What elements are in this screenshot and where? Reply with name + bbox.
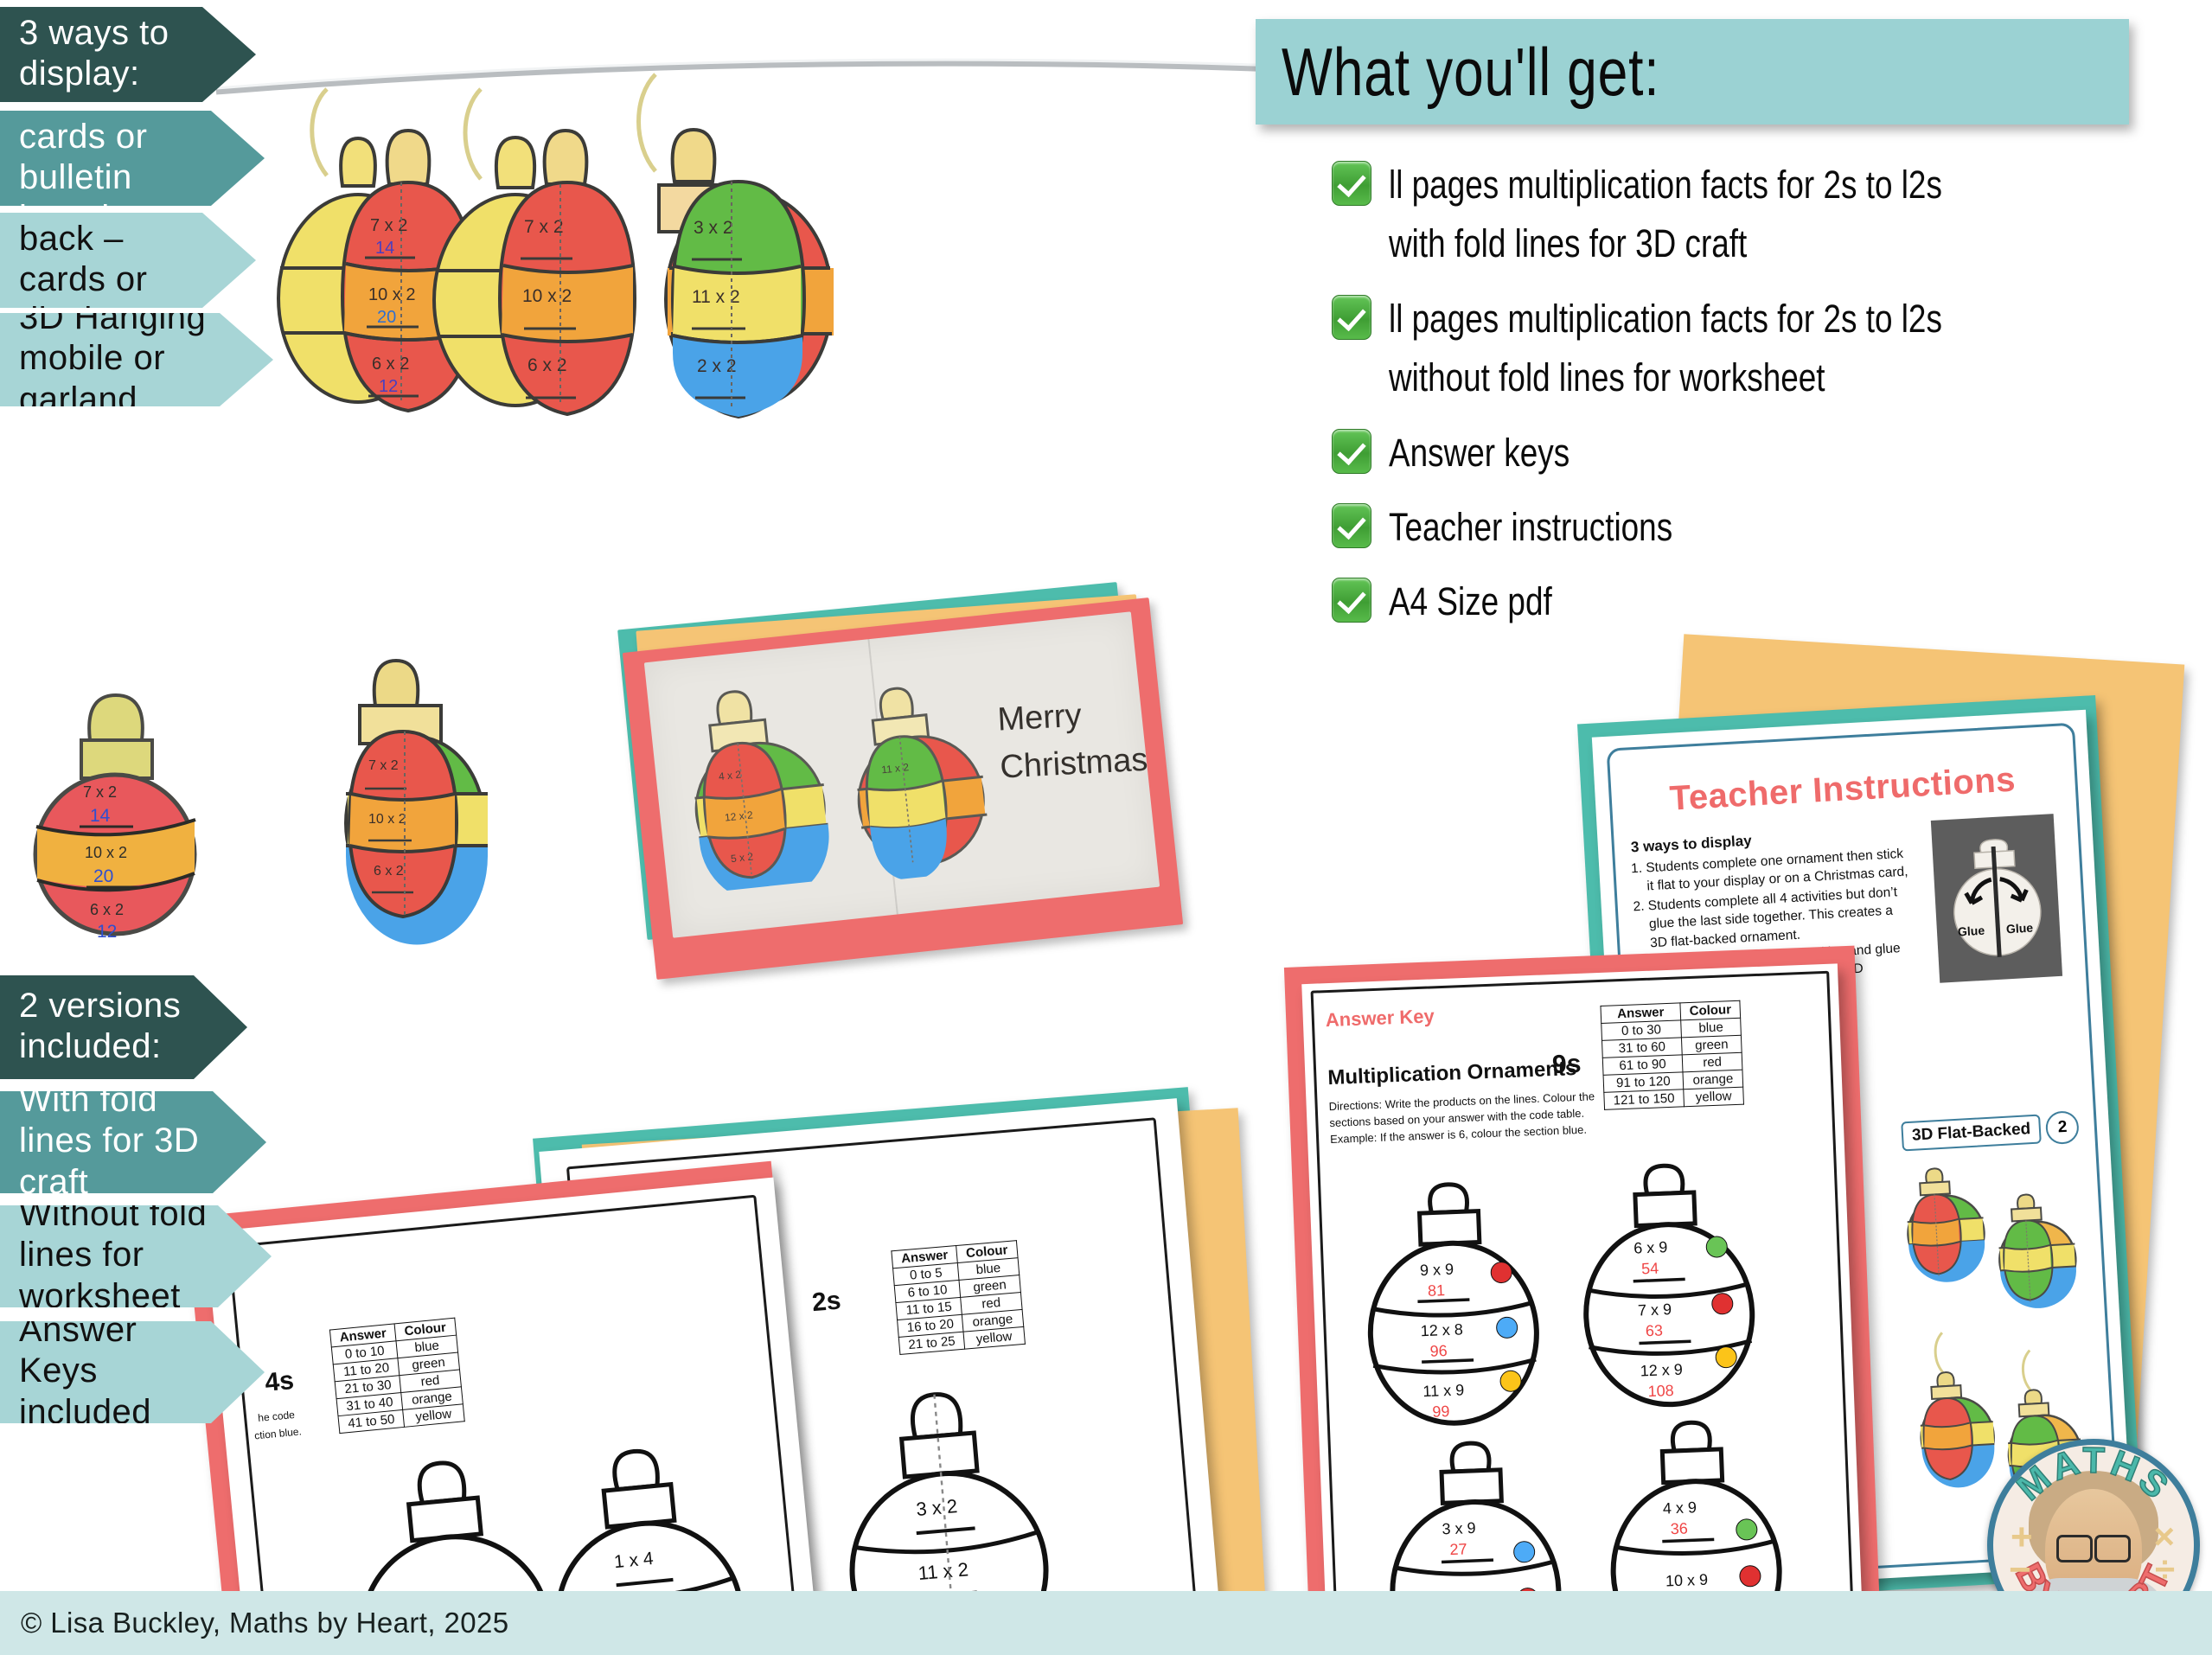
- svg-text:10 x 9: 10 x 9: [1665, 1571, 1709, 1590]
- feature-list: ll pages multiplication facts for 2s to …: [1332, 156, 2196, 648]
- feature-item-3: Answer keys: [1332, 424, 2196, 482]
- svg-text:4 x 2: 4 x 2: [718, 768, 742, 783]
- answer-key-ornament-1: 9 x 9 81 12 x 8 96 11 x 9 99: [1344, 1173, 1569, 1432]
- banner-3d-flat-back: 3D Flat-back – cards or display: [0, 213, 256, 308]
- glue-label-right: Glue: [2005, 921, 2033, 936]
- banner-2-versions-label: 2 versions included:: [19, 986, 187, 1067]
- minus-icon: −: [2009, 1549, 2031, 1592]
- flat-backed-number: 2: [2045, 1110, 2080, 1145]
- feature-item-4-line-1: Teacher instructions: [1389, 498, 1672, 557]
- svg-text:20: 20: [93, 866, 113, 886]
- feature-item-2: ll pages multiplication facts for 2s to …: [1332, 290, 2196, 408]
- check-icon: [1332, 578, 1371, 623]
- answer-key-code-table: Answer Colour 0 to 30blue 31 to 60green …: [1600, 1000, 1744, 1110]
- check-icon: [1332, 161, 1371, 206]
- svg-text:14: 14: [90, 806, 111, 826]
- svg-text:MATHS: MATHS: [2009, 1445, 2179, 1508]
- banner-without-fold-lines-label: Without fold lines for worksheet: [19, 1194, 211, 1317]
- svg-text:7 x 2: 7 x 2: [524, 217, 564, 237]
- feature-item-1: ll pages multiplication facts for 2s to …: [1332, 156, 2196, 274]
- footer-bar: © Lisa Buckley, Maths by Heart, 2025: [0, 1591, 2212, 1655]
- banner-with-fold-lines: With fold lines for 3D craft: [0, 1091, 266, 1193]
- svg-text:7 x 2: 7 x 2: [368, 758, 399, 773]
- svg-text:99: 99: [1432, 1403, 1450, 1421]
- copyright-text: © Lisa Buckley, Maths by Heart, 2025: [21, 1607, 509, 1639]
- greeting-line-2: Christmas: [999, 737, 1149, 792]
- card-greeting: Merry Christmas: [996, 689, 1149, 792]
- svg-text:27: 27: [1449, 1540, 1467, 1558]
- svg-text:20: 20: [377, 308, 396, 327]
- svg-text:10 x 2: 10 x 2: [85, 844, 127, 861]
- hanging-ornament-3: 3 x 2 11 x 2 2 x 2: [562, 67, 873, 413]
- check-icon: [1332, 295, 1371, 340]
- product-cover-canvas: 7 x 2 14 10 x 2 20 6 x 2 12 7 x 2: [0, 0, 2212, 1655]
- feature-item-5: A4 Size pdf: [1332, 572, 2196, 631]
- answer-key-times-table: 9s: [1551, 1050, 1582, 1080]
- flat-backed-ornament-samples: [1895, 1151, 2102, 1326]
- svg-text:7 x 2: 7 x 2: [83, 783, 117, 801]
- banner-3d-hanging-label: 3D Hanging mobile or garland: [19, 297, 213, 420]
- glue-label-left: Glue: [1958, 923, 1985, 939]
- banner-answer-keys-included: Answer Keys included: [0, 1321, 265, 1423]
- svg-text:6 x 2: 6 x 2: [374, 864, 404, 879]
- svg-text:6 x 2: 6 x 2: [90, 901, 124, 918]
- worksheet-4s-code-table: Answer Colour 0 to 10blue 11 to 20green …: [329, 1318, 464, 1434]
- svg-text:11 x 2: 11 x 2: [692, 287, 740, 307]
- feature-item-2-line-1: ll pages multiplication facts for 2s to …: [1389, 290, 1942, 348]
- greeting-line-1: Merry: [996, 689, 1147, 744]
- banner-2-versions-included: 2 versions included:: [0, 975, 247, 1079]
- worksheet-page-4s: 4s he code ction blue. Answer Colour 0 t…: [205, 1178, 818, 1655]
- svg-text:12: 12: [97, 922, 117, 942]
- feature-item-1-text: ll pages multiplication facts for 2s to …: [1389, 156, 2063, 274]
- svg-text:6 x 9: 6 x 9: [1633, 1238, 1668, 1256]
- check-icon: [1332, 429, 1371, 474]
- feature-item-4: Teacher instructions: [1332, 498, 2196, 557]
- feature-item-3-text: Answer keys: [1389, 424, 1609, 482]
- feature-item-5-line-1: A4 Size pdf: [1389, 572, 1552, 631]
- svg-text:11 x 2: 11 x 2: [917, 1558, 969, 1584]
- svg-text:96: 96: [1429, 1342, 1448, 1360]
- svg-text:4 x 9: 4 x 9: [1662, 1498, 1697, 1517]
- svg-text:3 x 2: 3 x 2: [915, 1495, 958, 1520]
- feature-item-2-line-2: without fold lines for worksheet: [1389, 348, 1942, 407]
- card-ornament-right: 11 x 2: [816, 661, 1019, 886]
- worksheet-4s-times-table: 4s: [264, 1366, 295, 1398]
- banner-without-fold-lines: Without fold lines for worksheet: [0, 1205, 272, 1307]
- feature-item-5-text: A4 Size pdf: [1389, 572, 1588, 631]
- svg-text:12 x 8: 12 x 8: [1420, 1320, 1463, 1339]
- svg-text:108: 108: [1647, 1382, 1674, 1400]
- svg-text:3 x 9: 3 x 9: [1442, 1519, 1476, 1537]
- banner-with-fold-lines-label: With fold lines for 3D craft: [19, 1080, 206, 1203]
- banner-3d-hanging: 3D Hanging mobile or garland: [0, 313, 273, 406]
- glue-demo-photo: Glue Glue: [1931, 814, 2062, 983]
- svg-text:12 x 9: 12 x 9: [1640, 1361, 1683, 1380]
- svg-text:36: 36: [1670, 1520, 1688, 1538]
- card-photo: 4 x 2 12 x 2 5 x 2 11 x 2: [644, 611, 1160, 937]
- worksheet-2s-code-table: Answer Colour 0 to 5blue 6 to 10green 11…: [891, 1240, 1025, 1355]
- banner-3-ways-to-display: 3 ways to display:: [0, 7, 256, 102]
- flat-back-3d-sample-ornament: 7 x 2 10 x 2 6 x 2: [285, 631, 502, 925]
- code-table-header-colour: Colour: [1680, 1000, 1741, 1020]
- svg-text:54: 54: [1641, 1260, 1659, 1278]
- svg-text:1 x 4: 1 x 4: [613, 1549, 655, 1572]
- what-youll-get-title: What you'll get:: [1282, 33, 1659, 112]
- divide-icon: ÷: [2155, 1549, 2175, 1590]
- worksheet-2s-times-table: 2s: [811, 1287, 842, 1319]
- answer-key-directions: Directions: Write the products on the li…: [1328, 1089, 1598, 1147]
- merry-christmas-photo-card: 4 x 2 12 x 2 5 x 2 11 x 2: [650, 605, 1186, 968]
- svg-text:6 x 2: 6 x 2: [372, 355, 409, 374]
- feature-item-4-text: Teacher instructions: [1389, 498, 1735, 557]
- flat-backed-label: 3D Flat-Backed: [1901, 1114, 2042, 1151]
- feature-item-3-line-1: Answer keys: [1389, 424, 1569, 482]
- svg-text:7 x 9: 7 x 9: [1638, 1300, 1672, 1319]
- svg-text:12: 12: [379, 377, 398, 396]
- feature-item-1-line-1: ll pages multiplication facts for 2s to …: [1389, 156, 1942, 214]
- svg-text:2 x 2: 2 x 2: [697, 356, 737, 376]
- svg-text:9 x 9: 9 x 9: [1420, 1261, 1454, 1279]
- svg-text:10 x 2: 10 x 2: [368, 812, 406, 827]
- banner-2d-flat: 2D Flat for cards or bulletin board: [0, 111, 265, 206]
- answer-key-doc: Answer Key Multiplication Ornaments 9s D…: [1301, 963, 1863, 1655]
- svg-text:81: 81: [1428, 1281, 1446, 1300]
- answer-key-ornament-2: 6 x 9 54 7 x 9 63 12 x 9 108: [1559, 1154, 1785, 1413]
- banner-3-ways-label: 3 ways to display:: [19, 13, 195, 94]
- svg-text:14: 14: [375, 239, 394, 258]
- flat-2d-sample-ornament: 7 x 2 14 10 x 2 20 6 x 2 12: [17, 657, 216, 943]
- feature-item-2-text: ll pages multiplication facts for 2s to …: [1389, 290, 2063, 408]
- svg-text:63: 63: [1646, 1321, 1664, 1339]
- check-icon: [1332, 503, 1371, 548]
- feature-item-1-line-2: with fold lines for 3D craft: [1389, 214, 1942, 273]
- what-youll-get-header: What you'll get:: [1256, 19, 2129, 125]
- banner-answer-keys-label: Answer Keys included: [19, 1310, 204, 1433]
- answer-key-label: Answer Key: [1325, 1005, 1435, 1032]
- svg-text:11 x 9: 11 x 9: [1422, 1381, 1464, 1400]
- svg-text:3 x 2: 3 x 2: [694, 218, 733, 238]
